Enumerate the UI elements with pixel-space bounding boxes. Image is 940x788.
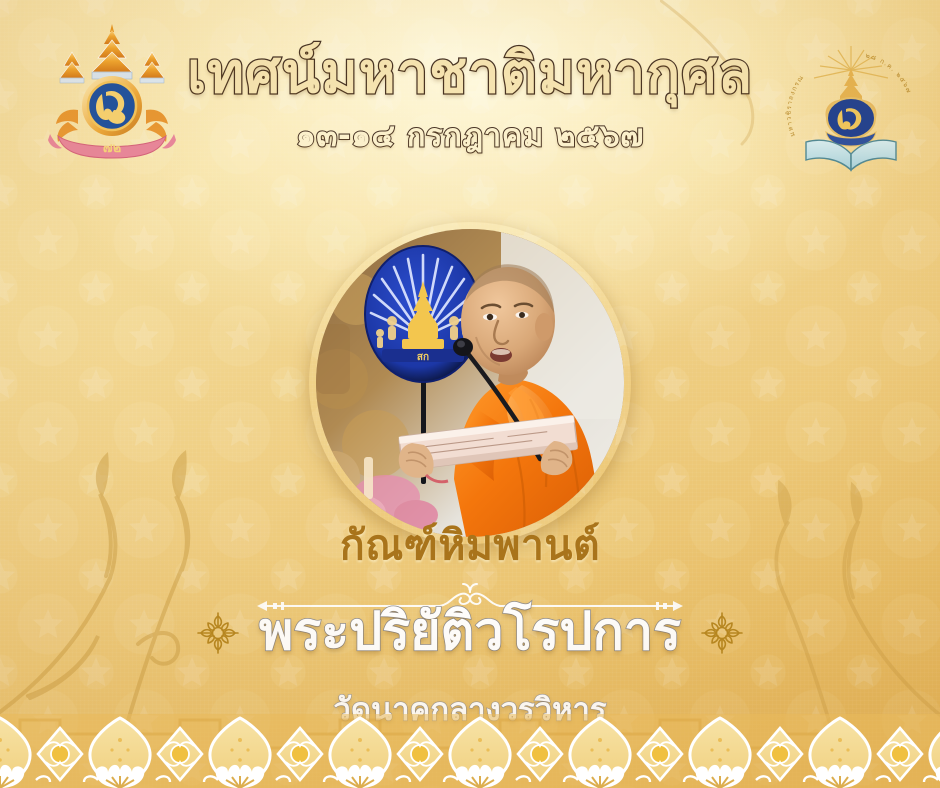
preacher-name: พระปริยัติวโรปการ: [259, 604, 681, 661]
chapter-label: กัณฑ์หิมพานต์: [0, 513, 940, 578]
page-title: เทศน์มหาชาติมหากุศล: [0, 44, 940, 104]
bottom-kranok-border: [0, 714, 940, 788]
rosette-ornament-left-icon: [195, 610, 241, 656]
fan-label: สก: [417, 352, 429, 363]
portrait-container: สก: [309, 222, 631, 544]
event-date: ๑๓-๑๔ กรกฎาคม ๒๕๖๗: [0, 110, 940, 160]
rosette-ornament-right-icon: [699, 610, 745, 656]
poster-canvas: ๗๒ มหาวชิราลงกรณ ๒๘ ก.: [0, 0, 940, 788]
preacher-name-row: พระปริยัติวโรปการ: [0, 604, 940, 661]
monk-portrait: สก: [316, 229, 624, 537]
header-text-block: เทศน์มหาชาติมหากุศล ๑๓-๑๔ กรกฎาคม ๒๕๖๗: [0, 44, 940, 160]
